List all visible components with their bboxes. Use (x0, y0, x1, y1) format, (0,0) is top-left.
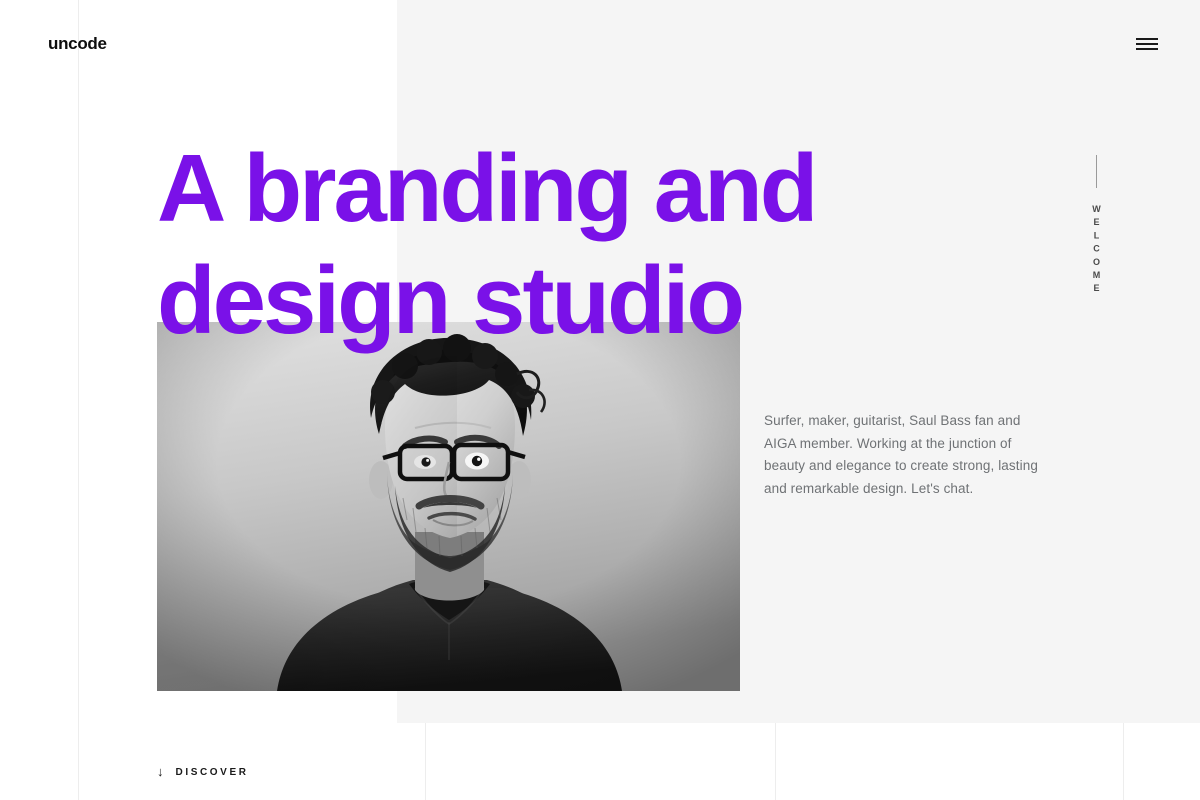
hamburger-menu-icon[interactable] (1132, 34, 1158, 54)
grid-line-bottom-1 (425, 723, 426, 800)
portrait-illustration (157, 322, 740, 691)
grid-line-bottom-2 (775, 723, 776, 800)
hero-paragraph: Surfer, maker, guitarist, Saul Bass fan … (764, 410, 1046, 500)
welcome-side-rail: WELCOME (1080, 155, 1112, 296)
hamburger-bar-1 (1136, 38, 1158, 40)
welcome-label: WELCOME (1092, 204, 1101, 296)
hamburger-bar-2 (1136, 43, 1158, 45)
page-root: uncode (0, 0, 1200, 800)
hamburger-bar-3 (1136, 48, 1158, 50)
grid-line-bottom-3 (1123, 723, 1124, 800)
arrow-down-icon: ↓ (157, 765, 164, 778)
rail-divider-line (1096, 155, 1097, 188)
site-logo[interactable]: uncode (48, 34, 107, 54)
site-header: uncode (0, 0, 1200, 88)
grid-line-left (78, 0, 79, 800)
hero-portrait-image (157, 322, 740, 691)
discover-label: DISCOVER (176, 767, 249, 778)
discover-button[interactable]: ↓ DISCOVER (157, 766, 249, 779)
